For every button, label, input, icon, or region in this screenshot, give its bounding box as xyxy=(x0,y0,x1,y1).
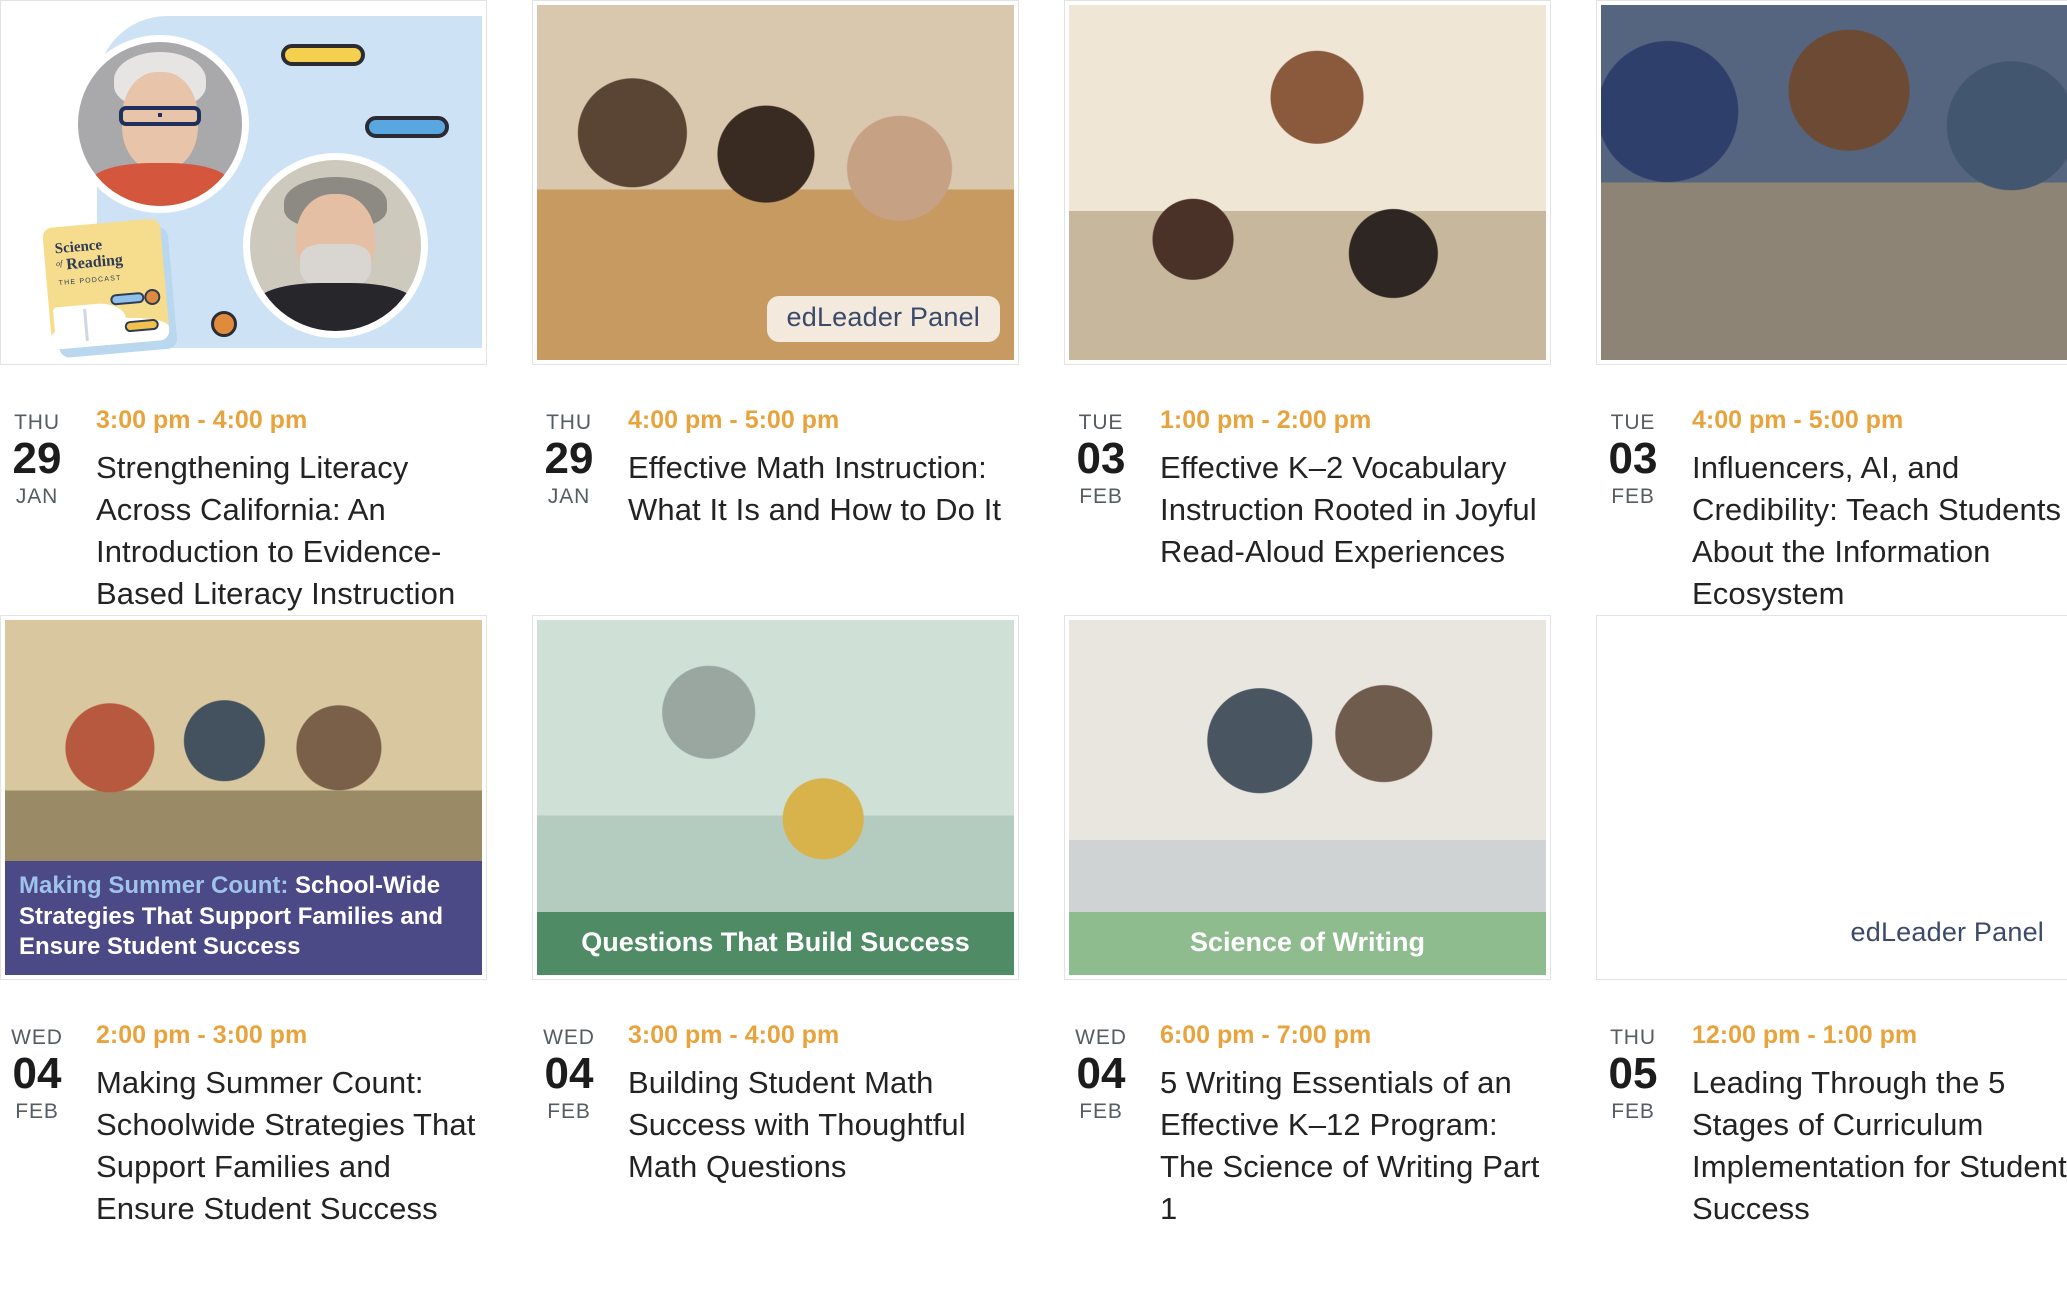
blue-pill-shape xyxy=(365,116,449,138)
shoulders-shape xyxy=(257,283,414,331)
event-month: JAN xyxy=(0,484,74,509)
event-title[interactable]: Building Student Math Success with Thoug… xyxy=(628,1062,1019,1188)
event-date-block: THU 29 JAN xyxy=(0,407,74,615)
event-weekday: THU xyxy=(0,411,74,434)
event-day: 03 xyxy=(1064,436,1138,482)
event-photo xyxy=(1069,5,1546,360)
thumbnail-inner: edLeader Panel xyxy=(1601,620,2067,975)
event-body: 2:00 pm - 3:00 pm Making Summer Count: S… xyxy=(74,1022,487,1230)
thumbnail-inner: Making Summer Count: School-Wide Strateg… xyxy=(5,620,482,975)
event-day: 04 xyxy=(1064,1051,1138,1097)
event-thumbnail[interactable] xyxy=(1596,0,2067,365)
podcast-cover-card: Science of Reading THE PODCAST xyxy=(42,218,170,350)
event-thumbnail[interactable]: Science of Reading THE PODCAST xyxy=(0,0,487,365)
thumbnail-inner: Science of Reading THE PODCAST xyxy=(5,5,482,360)
event-weekday: THU xyxy=(532,411,606,434)
event-weekday: THU xyxy=(1596,1026,1670,1049)
event-body: 12:00 pm - 1:00 pm Leading Through the 5… xyxy=(1670,1022,2067,1230)
event-meta: THU 05 FEB 12:00 pm - 1:00 pm Leading Th… xyxy=(1596,980,2067,1230)
event-meta: WED 04 FEB 2:00 pm - 3:00 pm Making Summ… xyxy=(0,980,487,1230)
event-card[interactable]: Science of Writing WED 04 FEB 6:00 pm - … xyxy=(1064,615,1551,1230)
thumbnail-inner: Questions That Build Success xyxy=(537,620,1014,975)
event-card[interactable]: TUE 03 FEB 4:00 pm - 5:00 pm Influencers… xyxy=(1596,0,2067,615)
event-body: 4:00 pm - 5:00 pm Effective Math Instruc… xyxy=(606,407,1019,531)
podcast-illustration: Science of Reading THE PODCAST xyxy=(5,5,482,360)
event-date-block: THU 29 JAN xyxy=(532,407,606,531)
event-day: 05 xyxy=(1596,1051,1670,1097)
event-time: 3:00 pm - 4:00 pm xyxy=(628,1022,1019,1050)
event-title[interactable]: Making Summer Count: Schoolwide Strategi… xyxy=(96,1062,487,1231)
event-time: 4:00 pm - 5:00 pm xyxy=(628,407,1019,435)
cover-title-line2: Reading xyxy=(65,251,123,274)
event-day: 04 xyxy=(0,1051,74,1097)
event-date-block: WED 04 FEB xyxy=(532,1022,606,1188)
thumbnail-inner xyxy=(1069,5,1546,360)
event-day: 29 xyxy=(532,436,606,482)
event-date-block: THU 05 FEB xyxy=(1596,1022,1670,1230)
event-month: FEB xyxy=(1064,1099,1138,1124)
event-thumbnail[interactable]: Questions That Build Success xyxy=(532,615,1019,980)
event-body: 1:00 pm - 2:00 pm Effective K–2 Vocabula… xyxy=(1138,407,1551,573)
event-month: FEB xyxy=(0,1099,74,1124)
event-day: 04 xyxy=(532,1051,606,1097)
event-date-block: TUE 03 FEB xyxy=(1596,407,1670,615)
thumbnail-inner: edLeader Panel xyxy=(537,5,1014,360)
glasses-icon xyxy=(119,106,201,126)
event-date-block: TUE 03 FEB xyxy=(1064,407,1138,573)
event-title[interactable]: Strengthening Literacy Across California… xyxy=(96,447,487,616)
event-weekday: TUE xyxy=(1064,411,1138,434)
cover-orange-dot xyxy=(144,288,161,305)
event-day: 03 xyxy=(1596,436,1670,482)
event-day: 29 xyxy=(0,436,74,482)
events-grid: Science of Reading THE PODCAST THU 29 JA… xyxy=(0,0,2067,1230)
event-weekday: WED xyxy=(0,1026,74,1049)
event-banner: Making Summer Count: School-Wide Strateg… xyxy=(5,861,482,975)
yellow-pill-shape xyxy=(281,44,365,66)
event-title[interactable]: Effective Math Instruction: What It Is a… xyxy=(628,447,1019,531)
thumbnail-inner xyxy=(1601,5,2067,360)
event-month: FEB xyxy=(532,1099,606,1124)
event-time: 2:00 pm - 3:00 pm xyxy=(96,1022,487,1050)
event-thumbnail[interactable]: Science of Writing xyxy=(1064,615,1551,980)
event-card[interactable]: edLeader Panel THU 29 JAN 4:00 pm - 5:00… xyxy=(532,0,1019,615)
event-title[interactable]: Influencers, AI, and Credibility: Teach … xyxy=(1692,447,2067,616)
event-month: FEB xyxy=(1596,1099,1670,1124)
event-body: 3:00 pm - 4:00 pm Strengthening Literacy… xyxy=(74,407,487,615)
event-body: 4:00 pm - 5:00 pm Influencers, AI, and C… xyxy=(1670,407,2067,615)
avatar-face xyxy=(250,160,421,331)
event-card[interactable]: Making Summer Count: School-Wide Strateg… xyxy=(0,615,487,1230)
avatar-face xyxy=(78,42,242,206)
event-weekday: TUE xyxy=(1596,411,1670,434)
speaker-avatar-two xyxy=(243,153,428,338)
event-month: JAN xyxy=(532,484,606,509)
event-card[interactable]: edLeader Panel THU 05 FEB 12:00 pm - 1:0… xyxy=(1596,615,2067,1230)
event-meta: TUE 03 FEB 1:00 pm - 2:00 pm Effective K… xyxy=(1064,365,1551,573)
event-card[interactable]: TUE 03 FEB 1:00 pm - 2:00 pm Effective K… xyxy=(1064,0,1551,615)
event-banner: Questions That Build Success xyxy=(537,912,1014,976)
event-thumbnail[interactable]: edLeader Panel xyxy=(532,0,1019,365)
event-banner: Science of Writing xyxy=(1069,912,1546,976)
event-thumbnail[interactable]: Making Summer Count: School-Wide Strateg… xyxy=(0,615,487,980)
cover-subtitle: THE PODCAST xyxy=(58,275,121,287)
shoulders-shape xyxy=(91,163,229,206)
banner-highlight-text: Making Summer Count: xyxy=(19,872,288,899)
event-meta: WED 04 FEB 3:00 pm - 4:00 pm Building St… xyxy=(532,980,1019,1188)
event-month: FEB xyxy=(1596,484,1670,509)
edleader-panel-badge: edLeader Panel xyxy=(1831,911,2064,957)
event-meta: WED 04 FEB 6:00 pm - 7:00 pm 5 Writing E… xyxy=(1064,980,1551,1230)
event-date-block: WED 04 FEB xyxy=(0,1022,74,1230)
event-thumbnail[interactable]: edLeader Panel xyxy=(1596,615,2067,980)
event-title[interactable]: Leading Through the 5 Stages of Curricul… xyxy=(1692,1062,2067,1231)
event-time: 1:00 pm - 2:00 pm xyxy=(1160,407,1551,435)
event-meta: THU 29 JAN 3:00 pm - 4:00 pm Strengtheni… xyxy=(0,365,487,615)
event-body: 3:00 pm - 4:00 pm Building Student Math … xyxy=(606,1022,1019,1188)
event-title[interactable]: 5 Writing Essentials of an Effective K–1… xyxy=(1160,1062,1551,1231)
event-time: 6:00 pm - 7:00 pm xyxy=(1160,1022,1551,1050)
event-photo xyxy=(1601,5,2067,360)
orange-dot-shape xyxy=(211,311,237,337)
edleader-panel-badge: edLeader Panel xyxy=(767,296,1000,342)
open-book-icon xyxy=(53,301,128,349)
event-time: 12:00 pm - 1:00 pm xyxy=(1692,1022,2067,1050)
event-meta: TUE 03 FEB 4:00 pm - 5:00 pm Influencers… xyxy=(1596,365,2067,615)
event-body: 6:00 pm - 7:00 pm 5 Writing Essentials o… xyxy=(1138,1022,1551,1230)
event-month: FEB xyxy=(1064,484,1138,509)
event-card[interactable]: Questions That Build Success WED 04 FEB … xyxy=(532,615,1019,1230)
event-title[interactable]: Effective K–2 Vocabulary Instruction Roo… xyxy=(1160,447,1551,573)
event-thumbnail[interactable] xyxy=(1064,0,1551,365)
speaker-avatar-one xyxy=(71,35,249,213)
cover-title-of: of xyxy=(56,259,63,269)
event-time: 3:00 pm - 4:00 pm xyxy=(96,407,487,435)
event-weekday: WED xyxy=(532,1026,606,1049)
cover-blue-pill xyxy=(110,292,145,306)
event-date-block: WED 04 FEB xyxy=(1064,1022,1138,1230)
thumbnail-inner: Science of Writing xyxy=(1069,620,1546,975)
event-meta: THU 29 JAN 4:00 pm - 5:00 pm Effective M… xyxy=(532,365,1019,531)
event-time: 4:00 pm - 5:00 pm xyxy=(1692,407,2067,435)
event-weekday: WED xyxy=(1064,1026,1138,1049)
event-card[interactable]: Science of Reading THE PODCAST THU 29 JA… xyxy=(0,0,487,615)
